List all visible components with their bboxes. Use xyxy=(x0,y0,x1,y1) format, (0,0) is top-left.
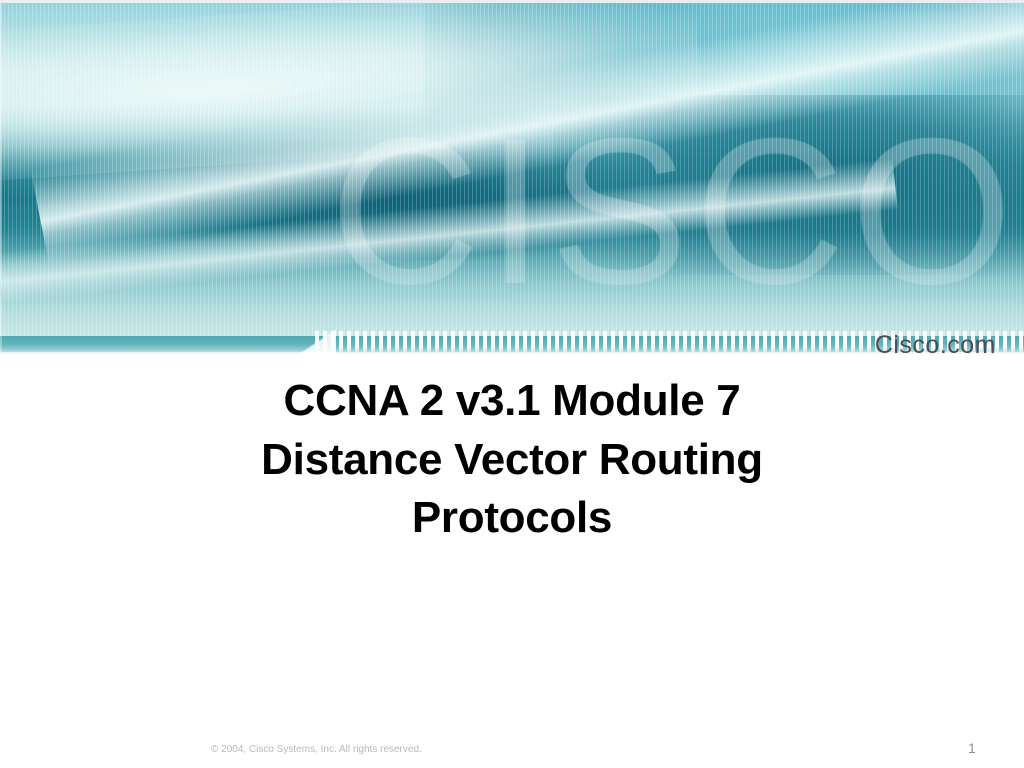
banner-left-edge-line xyxy=(0,0,2,352)
banner-pinstripe-texture xyxy=(0,0,1024,352)
slide-title-line-1: CCNA 2 v3.1 Module 7 xyxy=(112,372,912,431)
banner-top-edge-line xyxy=(0,0,1024,3)
slide-title-line-2: Distance Vector Routing xyxy=(112,431,912,490)
presentation-slide: CISCO Cisco.com CCNA 2 v3.1 Module 7 Dis… xyxy=(0,0,1024,768)
slide-number: 1 xyxy=(968,740,976,756)
banner-stripe-divider xyxy=(0,318,1024,356)
slide-title-line-3: Protocols xyxy=(112,489,912,548)
cisco-com-wordmark: Cisco.com xyxy=(875,331,996,360)
copyright-notice: © 2004, Cisco Systems, Inc. All rights r… xyxy=(211,744,422,755)
cisco-com-wordmark-label: Cisco.com xyxy=(875,331,996,359)
stripe-divider-fade xyxy=(0,352,1024,356)
slide-title: CCNA 2 v3.1 Module 7 Distance Vector Rou… xyxy=(112,372,912,548)
title-banner-image: CISCO xyxy=(0,0,1024,352)
